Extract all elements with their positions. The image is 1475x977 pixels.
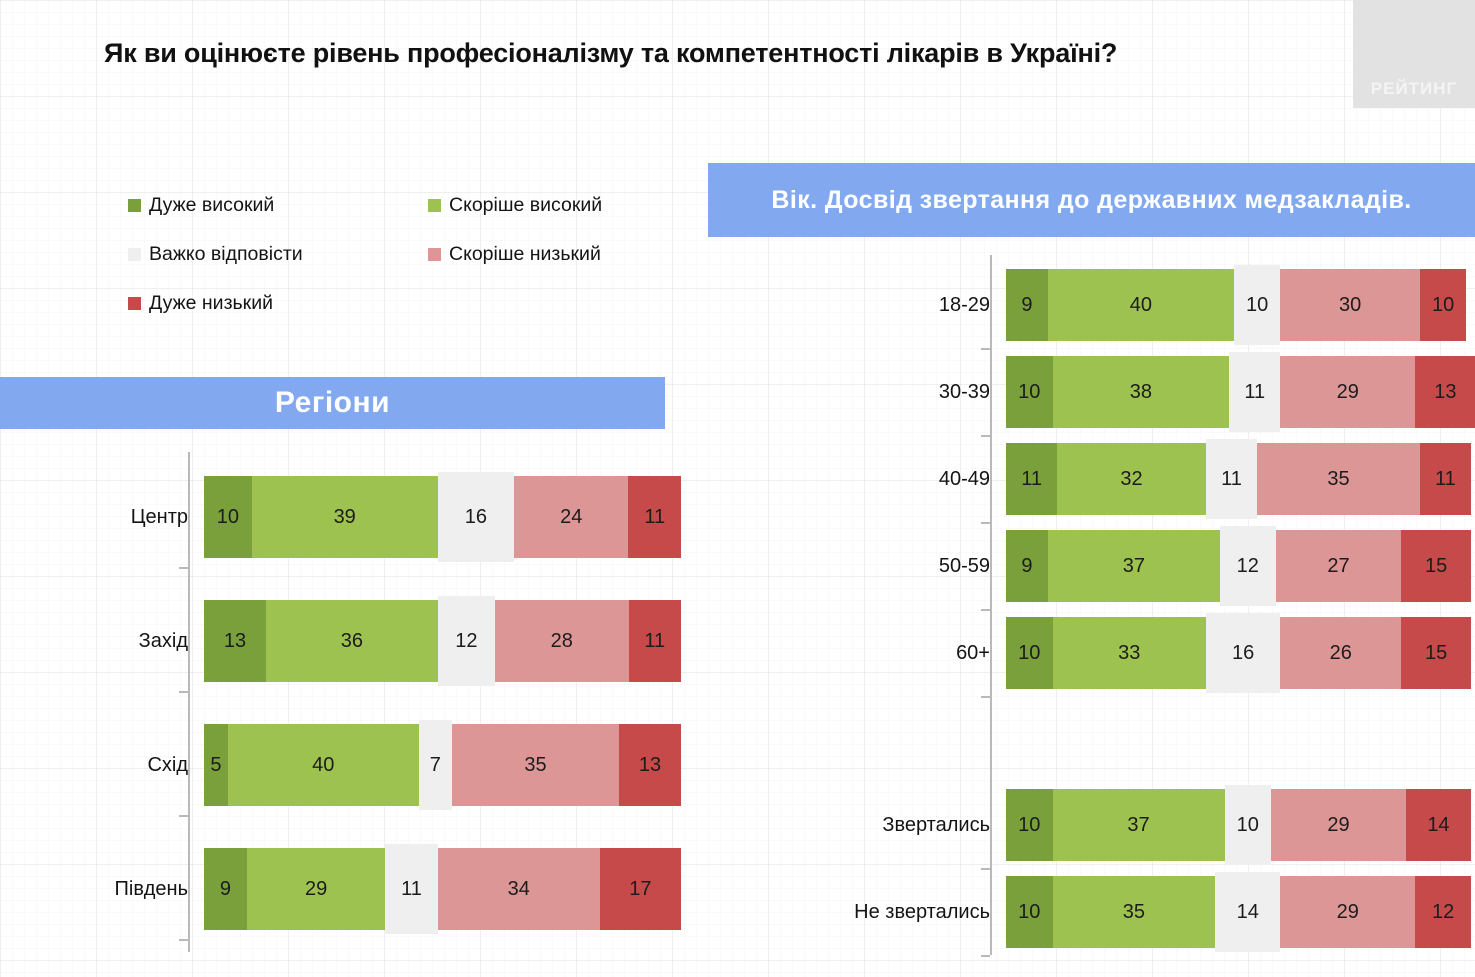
bar-segment-very-low: 12 (1415, 876, 1471, 948)
bar-segment-very-low: 13 (619, 724, 681, 806)
legend-swatch-very-high (128, 199, 141, 212)
bar-segment-hard-to-answer: 11 (385, 844, 437, 934)
bar-segment-very-low: 14 (1406, 789, 1471, 861)
rating-logo: РЕЙТИНГ (1353, 0, 1475, 108)
bar-row: 40-491132113511 (700, 443, 1475, 515)
bar-segment-rather-high: 37 (1048, 530, 1220, 602)
axis-tick (981, 348, 990, 350)
legend-swatch-hard-to-answer (128, 248, 141, 261)
bar-segment-rather-low: 29 (1280, 876, 1415, 948)
bar-segment-rather-low: 30 (1280, 269, 1420, 341)
bar-segment-hard-to-answer: 12 (1220, 526, 1276, 606)
bar-segment-rather-low: 35 (452, 724, 619, 806)
bar-segment-very-low: 15 (1401, 617, 1471, 689)
legend-item-rather-high: Скоріше високий (428, 194, 668, 217)
row-label: Звертались (700, 814, 1006, 837)
chart-regions: Центр1039162411Захід1336122811Схід540735… (0, 452, 680, 952)
bar-segment-very-low: 11 (1420, 443, 1471, 515)
bar-segment-rather-low: 34 (438, 848, 600, 930)
legend-label-hard-to-answer: Важко відповісти (149, 243, 303, 266)
bar-segment-very-low: 15 (1401, 530, 1471, 602)
section-banner-regions: Регіони (0, 377, 665, 429)
bar-segment-rather-high: 32 (1057, 443, 1206, 515)
bar-segment-very-low: 11 (629, 600, 681, 682)
legend-item-very-high: Дуже високий (128, 194, 428, 217)
bar-track: 1038112913 (1006, 356, 1475, 428)
bar-segment-hard-to-answer: 16 (438, 472, 514, 562)
bar-segment-rather-high: 40 (228, 724, 419, 806)
bar-segment-rather-low: 26 (1280, 617, 1401, 689)
bar-row: 50-59937122715 (700, 530, 1475, 602)
section-banner-age: Вік. Досвід звертання до державних медза… (708, 163, 1475, 237)
bar-segment-hard-to-answer: 10 (1234, 265, 1281, 345)
axis-tick (981, 435, 990, 437)
bar-segment-very-high: 11 (1006, 443, 1057, 515)
chart-age: 18-2994010301030-39103811291340-49113211… (700, 255, 1475, 955)
legend-swatch-rather-low (428, 248, 441, 261)
axis-tick (179, 691, 188, 693)
bar-track: 1336122811 (204, 600, 681, 682)
bar-segment-very-low: 13 (1415, 356, 1475, 428)
row-label: 60+ (700, 642, 1006, 665)
bar-track: 1132113511 (1006, 443, 1475, 515)
bar-segment-hard-to-answer: 11 (1229, 352, 1280, 432)
bar-segment-rather-low: 29 (1271, 789, 1406, 861)
bar-track: 1039162411 (204, 476, 681, 558)
bar-row: Не звертались1035142912 (700, 876, 1475, 948)
bar-segment-very-high: 10 (1006, 789, 1053, 861)
axis-tick (981, 696, 990, 698)
bar-segment-rather-low: 24 (514, 476, 628, 558)
bar-segment-very-high: 5 (204, 724, 228, 806)
page-title: Як ви оцінюєте рівень професіоналізму та… (104, 38, 1324, 69)
bar-segment-hard-to-answer: 16 (1206, 613, 1280, 693)
legend-item-very-low: Дуже низький (128, 292, 428, 315)
legend-item-hard-to-answer: Важко відповісти (128, 243, 428, 266)
bar-segment-rather-high: 40 (1048, 269, 1234, 341)
bar-segment-very-high: 9 (204, 848, 247, 930)
legend-label-very-low: Дуже низький (149, 292, 273, 315)
bar-segment-very-low: 17 (600, 848, 681, 930)
row-label: 40-49 (700, 468, 1006, 491)
bar-track: 1037102914 (1006, 789, 1475, 861)
legend-label-rather-high: Скоріше високий (449, 194, 602, 217)
axis-tick (981, 609, 990, 611)
bar-segment-very-high: 9 (1006, 269, 1048, 341)
row-label: 50-59 (700, 555, 1006, 578)
bar-segment-very-high: 9 (1006, 530, 1048, 602)
bar-segment-rather-high: 29 (247, 848, 385, 930)
row-label: 30-39 (700, 381, 1006, 404)
bar-segment-very-high: 10 (204, 476, 252, 558)
bar-segment-rather-low: 35 (1257, 443, 1420, 515)
axis-tick (981, 955, 990, 957)
bar-segment-hard-to-answer: 12 (438, 596, 495, 686)
bar-segment-hard-to-answer: 14 (1215, 872, 1280, 952)
bar-segment-very-high: 10 (1006, 617, 1053, 689)
row-label: Не звертались (700, 901, 1006, 924)
row-label: Центр (0, 506, 204, 529)
axis-tick (179, 939, 188, 941)
chart-legend: Дуже високий Скоріше високий Важко відпо… (128, 194, 668, 315)
bar-segment-rather-high: 36 (266, 600, 438, 682)
row-label: Захід (0, 630, 204, 653)
bar-track: 940103010 (1006, 269, 1475, 341)
bar-row: Центр1039162411 (0, 476, 680, 558)
bar-row: Звертались1037102914 (700, 789, 1475, 861)
bar-track: 929113417 (204, 848, 681, 930)
bar-row: 30-391038112913 (700, 356, 1475, 428)
bar-track: 937122715 (1006, 530, 1475, 602)
bar-segment-very-high: 10 (1006, 876, 1053, 948)
logo-text: РЕЙТИНГ (1371, 79, 1457, 108)
legend-label-very-high: Дуже високий (149, 194, 274, 217)
bar-row: Південь929113417 (0, 848, 680, 930)
axis-tick (981, 868, 990, 870)
chart-age-rows: 18-2994010301030-39103811291340-49113211… (700, 255, 1475, 955)
bar-segment-rather-low: 27 (1276, 530, 1402, 602)
legend-label-rather-low: Скоріше низький (449, 243, 601, 266)
row-label: Південь (0, 878, 204, 901)
bar-segment-rather-high: 39 (252, 476, 438, 558)
bar-segment-very-high: 13 (204, 600, 266, 682)
bar-segment-rather-high: 37 (1053, 789, 1225, 861)
bar-segment-rather-high: 33 (1053, 617, 1206, 689)
legend-item-rather-low: Скоріше низький (428, 243, 668, 266)
bar-row: Схід54073513 (0, 724, 680, 806)
bar-segment-very-low: 11 (628, 476, 680, 558)
bar-row: 60+1033162615 (700, 617, 1475, 689)
axis-tick (179, 815, 188, 817)
bar-segment-hard-to-answer: 11 (1206, 439, 1257, 519)
legend-swatch-very-low (128, 297, 141, 310)
bar-segment-rather-low: 29 (1280, 356, 1415, 428)
row-label: 18-29 (700, 294, 1006, 317)
bar-segment-rather-low: 28 (495, 600, 629, 682)
chart-regions-rows: Центр1039162411Захід1336122811Схід540735… (0, 452, 680, 952)
bar-segment-hard-to-answer: 10 (1225, 785, 1272, 865)
bar-segment-very-low: 10 (1420, 269, 1467, 341)
bar-segment-rather-high: 35 (1053, 876, 1216, 948)
bar-segment-rather-high: 38 (1053, 356, 1230, 428)
row-label: Схід (0, 754, 204, 777)
axis-tick (179, 567, 188, 569)
bar-track: 1033162615 (1006, 617, 1475, 689)
bar-track: 54073513 (204, 724, 681, 806)
axis-tick (981, 522, 990, 524)
bar-segment-hard-to-answer: 7 (419, 720, 452, 810)
legend-swatch-rather-high (428, 199, 441, 212)
bar-row: Захід1336122811 (0, 600, 680, 682)
bar-row: 18-29940103010 (700, 269, 1475, 341)
bar-segment-very-high: 10 (1006, 356, 1053, 428)
bar-track: 1035142912 (1006, 876, 1475, 948)
